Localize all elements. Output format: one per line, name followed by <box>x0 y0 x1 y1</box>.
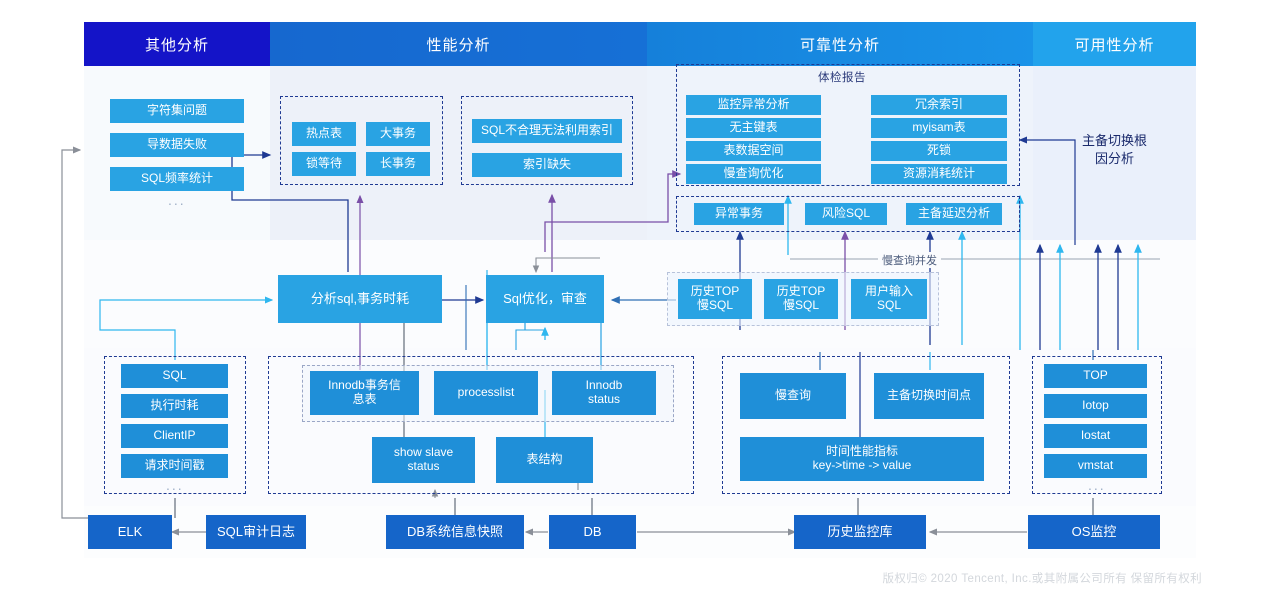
tab-availability-analysis[interactable]: 可用性分析 <box>1033 22 1196 66</box>
tab-other-analysis[interactable]: 其他分析 <box>84 22 270 66</box>
chip-history-monitoring-db[interactable]: 历史监控库 <box>794 515 926 549</box>
chip-sql-optimize-review[interactable]: Sql优化，审查 <box>486 275 604 323</box>
chip-request-timestamp-field[interactable]: 请求时间戳 <box>121 454 228 478</box>
chip-failover-timepoint[interactable]: 主备切换时间点 <box>874 373 984 419</box>
chip-top[interactable]: TOP <box>1044 364 1147 388</box>
chip-abnormal-transaction[interactable]: 异常事务 <box>694 203 784 225</box>
chip-monitor-anomaly-analysis[interactable]: 监控异常分析 <box>686 95 821 115</box>
other-analysis-more: ... <box>168 192 186 208</box>
copyright-footer: 版权归© 2020 Tencent, Inc.或其附属公司所有 保留所有权利 <box>882 570 1202 586</box>
chip-innodb-status[interactable]: Innodb status <box>552 371 656 415</box>
chip-sql-frequency-stats[interactable]: SQL频率统计 <box>110 167 244 191</box>
tab-reliability-analysis[interactable]: 可靠性分析 <box>647 22 1033 66</box>
chip-user-input-sql[interactable]: 用户输入 SQL <box>851 279 927 319</box>
tab-label: 其他分析 <box>145 34 209 55</box>
chip-client-ip-field[interactable]: ClientIP <box>121 424 228 448</box>
chip-charset-issue[interactable]: 字符集问题 <box>110 99 244 123</box>
band-middle <box>84 240 1196 348</box>
chip-myisam-table[interactable]: myisam表 <box>871 118 1007 138</box>
chip-elk[interactable]: ELK <box>88 515 172 549</box>
chip-slow-query-optimization[interactable]: 慢查询优化 <box>686 164 821 184</box>
chip-data-export-failure[interactable]: 导数据失败 <box>110 133 244 157</box>
chip-sql-audit-log[interactable]: SQL审计日志 <box>206 515 306 549</box>
chip-table-data-space[interactable]: 表数据空间 <box>686 141 821 161</box>
chip-db[interactable]: DB <box>549 515 636 549</box>
chip-slow-query[interactable]: 慢查询 <box>740 373 846 419</box>
chip-resource-consumption-stats[interactable]: 资源消耗统计 <box>871 164 1007 184</box>
health-report-title: 体检报告 <box>818 69 866 85</box>
tab-label: 性能分析 <box>426 34 490 55</box>
chip-missing-index[interactable]: 索引缺失 <box>472 153 622 177</box>
chip-sql-cannot-use-index[interactable]: SQL不合理无法利用索引 <box>472 119 622 143</box>
chip-risk-sql[interactable]: 风险SQL <box>805 203 887 225</box>
availability-root-cause-text: 主备切换根 因分析 <box>1041 132 1188 167</box>
chip-hotspot-table[interactable]: 热点表 <box>292 122 356 146</box>
chip-db-system-info-snapshot[interactable]: DB系统信息快照 <box>386 515 524 549</box>
tab-performance-analysis[interactable]: 性能分析 <box>270 22 647 66</box>
diagram-canvas: 其他分析 性能分析 可靠性分析 可用性分析 <box>0 0 1280 594</box>
chip-iotop[interactable]: Iotop <box>1044 394 1147 418</box>
chip-analyze-sql-transaction-time[interactable]: 分析sql,事务时耗 <box>278 275 442 323</box>
chip-iostat[interactable]: Iostat <box>1044 424 1147 448</box>
chip-os-monitoring[interactable]: OS监控 <box>1028 515 1160 549</box>
chip-vmstat[interactable]: vmstat <box>1044 454 1147 478</box>
tab-label: 可靠性分析 <box>800 34 880 55</box>
chip-history-top-slow-sql-1[interactable]: 历史TOP 慢SQL <box>678 279 752 319</box>
chip-long-transaction[interactable]: 长事务 <box>366 152 430 176</box>
chip-table-structure[interactable]: 表结构 <box>496 437 593 483</box>
chip-show-slave-status[interactable]: show slave status <box>372 437 475 483</box>
slow-query-concurrency-label: 慢查询并发 <box>878 252 941 268</box>
chip-innodb-trx-info-table[interactable]: Innodb事务信 息表 <box>310 371 419 415</box>
chip-sql-field[interactable]: SQL <box>121 364 228 388</box>
chip-no-primary-key-table[interactable]: 无主键表 <box>686 118 821 138</box>
chip-exec-time-field[interactable]: 执行时耗 <box>121 394 228 418</box>
chip-processlist[interactable]: processlist <box>434 371 538 415</box>
os-tools-more: ... <box>1088 477 1106 493</box>
chip-lock-wait[interactable]: 锁等待 <box>292 152 356 176</box>
chip-time-perf-metric[interactable]: 时间性能指标 key->time -> value <box>740 437 984 481</box>
elk-fields-more: ... <box>166 477 184 493</box>
chip-history-top-slow-sql-2[interactable]: 历史TOP 慢SQL <box>764 279 838 319</box>
tab-label: 可用性分析 <box>1074 34 1154 55</box>
chip-deadlock[interactable]: 死锁 <box>871 141 1007 161</box>
chip-replica-delay-analysis[interactable]: 主备延迟分析 <box>906 203 1002 225</box>
chip-redundant-index[interactable]: 冗余索引 <box>871 95 1007 115</box>
chip-big-transaction[interactable]: 大事务 <box>366 122 430 146</box>
